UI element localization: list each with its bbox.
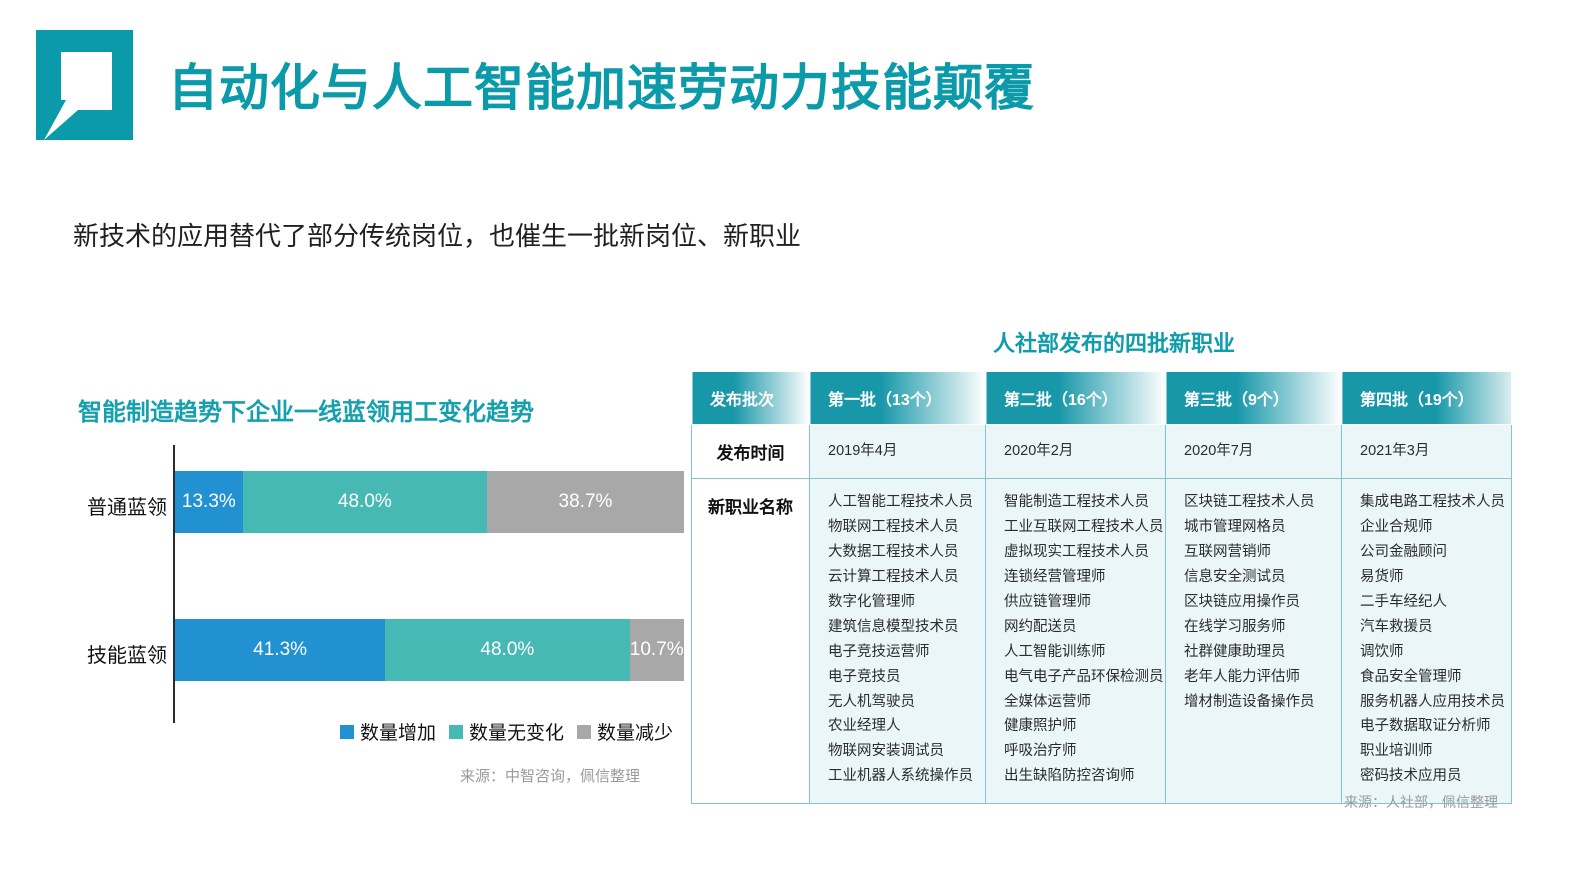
- occupation-item: 区块链应用操作员: [1184, 590, 1331, 615]
- occupation-item: 工业机器人系统操作员: [828, 764, 975, 789]
- bar-row: 41.3% 48.0% 10.7%: [175, 619, 684, 681]
- bar-row: 13.3% 48.0% 38.7%: [175, 471, 684, 533]
- release-date-batch-1: 2019年4月: [810, 425, 986, 479]
- legend-swatch-icon: [577, 725, 591, 739]
- occupation-item: 工业互联网工程技术人员: [1004, 515, 1155, 540]
- occupation-list-batch-3: 区块链工程技术人员城市管理网格员互联网营销师信息安全测试员区块链应用操作员在线学…: [1166, 479, 1342, 804]
- table-row-occupation-names: 新职业名称 人工智能工程技术人员物联网工程技术人员大数据工程技术人员云计算工程技…: [692, 479, 1512, 804]
- occupation-item: 信息安全测试员: [1184, 565, 1331, 590]
- occupation-item: 电气电子产品环保检测员: [1004, 665, 1155, 690]
- occupation-item: 在线学习服务师: [1184, 615, 1331, 640]
- occupation-item: 数字化管理师: [828, 590, 975, 615]
- category-label-ordinary: 普通蓝领: [63, 491, 167, 520]
- occupation-item: 电子数据取证分析师: [1360, 714, 1501, 739]
- occupation-item: 汽车救援员: [1360, 615, 1501, 640]
- occupation-item: 职业培训师: [1360, 739, 1501, 764]
- bar-segment-increase: 13.3%: [175, 471, 243, 533]
- occupation-item: 食品安全管理师: [1360, 665, 1501, 690]
- occupation-item: 电子竞技运营师: [828, 640, 975, 665]
- column-header-batch-3: 第三批（9个）: [1166, 372, 1342, 425]
- release-date-batch-4: 2021年3月: [1342, 425, 1512, 479]
- occupation-item: 二手车经纪人: [1360, 590, 1501, 615]
- legend-swatch-icon: [449, 725, 463, 739]
- occupation-item: 云计算工程技术人员: [828, 565, 975, 590]
- occupation-item: 区块链工程技术人员: [1184, 490, 1331, 515]
- occupation-item: 出生缺陷防控咨询师: [1004, 764, 1155, 789]
- occupation-item: 农业经理人: [828, 714, 975, 739]
- table-source-note: 来源：人社部，佩信整理: [1344, 792, 1498, 812]
- occupation-item: 集成电路工程技术人员: [1360, 490, 1501, 515]
- table-row-release-date: 发布时间 2019年4月 2020年2月 2020年7月 2021年3月: [692, 425, 1512, 479]
- release-date-batch-3: 2020年7月: [1166, 425, 1342, 479]
- occupation-item: 智能制造工程技术人员: [1004, 490, 1155, 515]
- new-occupations-table: 发布批次 第一批（13个） 第二批（16个） 第三批（9个） 第四批（19个） …: [691, 371, 1512, 804]
- chart-title: 智能制造趋势下企业一线蓝领用工变化趋势: [78, 392, 534, 427]
- occupation-item: 服务机器人应用技术员: [1360, 690, 1501, 715]
- occupation-item: 社群健康助理员: [1184, 640, 1331, 665]
- occupation-item: 老年人能力评估师: [1184, 665, 1331, 690]
- occupation-item: 全媒体运营师: [1004, 690, 1155, 715]
- occupation-item: 物联网安装调试员: [828, 739, 975, 764]
- legend-label: 数量无变化: [469, 718, 564, 745]
- legend-item-nochange: 数量无变化: [449, 718, 564, 745]
- occupation-item: 物联网工程技术人员: [828, 515, 975, 540]
- column-header-batch: 发布批次: [692, 372, 810, 425]
- bar-segment-nochange: 48.0%: [243, 471, 487, 533]
- occupation-item: 电子竞技员: [828, 665, 975, 690]
- column-header-batch-1: 第一批（13个）: [810, 372, 986, 425]
- occupation-item: 网约配送员: [1004, 615, 1155, 640]
- occupation-item: 大数据工程技术人员: [828, 540, 975, 565]
- bar-segment-decrease: 10.7%: [630, 619, 684, 681]
- occupation-item: 互联网营销师: [1184, 540, 1331, 565]
- stacked-bar-chart: 普通蓝领 技能蓝领 13.3% 48.0% 38.7% 41.3% 48.0% …: [33, 445, 653, 735]
- page-subtitle: 新技术的应用替代了部分传统岗位，也催生一批新岗位、新职业: [73, 216, 801, 253]
- occupation-item: 无人机驾驶员: [828, 690, 975, 715]
- occupation-item: 增材制造设备操作员: [1184, 690, 1331, 715]
- bar-segment-nochange: 48.0%: [385, 619, 629, 681]
- column-header-batch-4: 第四批（19个）: [1342, 372, 1512, 425]
- occupation-item: 公司金融顾问: [1360, 540, 1501, 565]
- legend-item-decrease: 数量减少: [577, 718, 673, 745]
- occupation-item: 城市管理网格员: [1184, 515, 1331, 540]
- occupation-list-batch-4: 集成电路工程技术人员企业合规师公司金融顾问易货师二手车经纪人汽车救援员调饮师食品…: [1342, 479, 1512, 804]
- legend-label: 数量减少: [597, 718, 673, 745]
- bar-segment-decrease: 38.7%: [487, 471, 684, 533]
- legend-item-increase: 数量增加: [340, 718, 436, 745]
- occupation-item: 企业合规师: [1360, 515, 1501, 540]
- chart-source-note: 来源：中智咨询，佩信整理: [460, 765, 640, 786]
- occupation-item: 密码技术应用员: [1360, 764, 1501, 789]
- occupation-item: 建筑信息模型技术员: [828, 615, 975, 640]
- occupation-item: 人工智能工程技术人员: [828, 490, 975, 515]
- table-title: 人社部发布的四批新职业: [993, 326, 1235, 358]
- category-label-skilled: 技能蓝领: [63, 639, 167, 668]
- occupation-list-batch-1: 人工智能工程技术人员物联网工程技术人员大数据工程技术人员云计算工程技术人员数字化…: [810, 479, 986, 804]
- page-title: 自动化与人工智能加速劳动力技能颠覆: [168, 48, 1035, 120]
- row-header-occupation-names: 新职业名称: [692, 479, 810, 804]
- legend-swatch-icon: [340, 725, 354, 739]
- row-header-release-date: 发布时间: [692, 425, 810, 479]
- occupation-item: 连锁经营管理师: [1004, 565, 1155, 590]
- occupation-item: 呼吸治疗师: [1004, 739, 1155, 764]
- occupation-list-batch-2: 智能制造工程技术人员工业互联网工程技术人员虚拟现实工程技术人员连锁经营管理师供应…: [986, 479, 1166, 804]
- occupation-item: 人工智能训练师: [1004, 640, 1155, 665]
- occupation-item: 易货师: [1360, 565, 1501, 590]
- release-date-batch-2: 2020年2月: [986, 425, 1166, 479]
- slide-canvas: 自动化与人工智能加速劳动力技能颠覆 新技术的应用替代了部分传统岗位，也催生一批新…: [0, 0, 1593, 896]
- occupation-item: 健康照护师: [1004, 714, 1155, 739]
- legend-label: 数量增加: [360, 718, 436, 745]
- occupation-item: 虚拟现实工程技术人员: [1004, 540, 1155, 565]
- occupation-item: 调饮师: [1360, 640, 1501, 665]
- quote-bubble-logo-icon: [36, 30, 133, 140]
- occupation-item: 供应链管理师: [1004, 590, 1155, 615]
- table-header-row: 发布批次 第一批（13个） 第二批（16个） 第三批（9个） 第四批（19个）: [692, 372, 1512, 425]
- chart-legend: 数量增加 数量无变化 数量减少: [340, 718, 673, 745]
- column-header-batch-2: 第二批（16个）: [986, 372, 1166, 425]
- bar-segment-increase: 41.3%: [175, 619, 385, 681]
